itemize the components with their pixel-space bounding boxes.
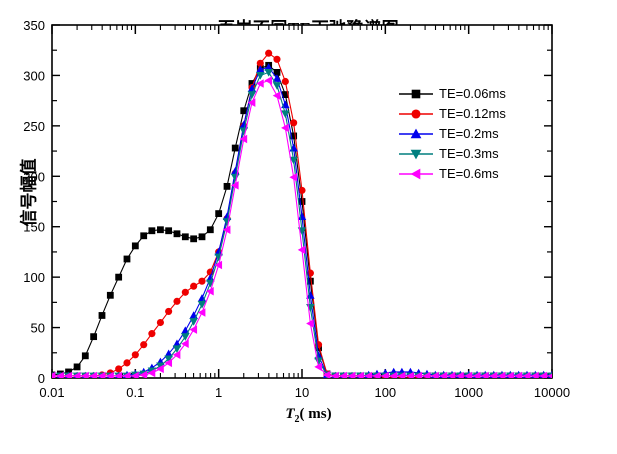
x-tick-label: 1 [215,385,222,400]
data-point-marker [190,235,197,242]
legend-item[interactable]: TE=0.06ms [398,84,506,104]
chart-legend: TE=0.06msTE=0.12msTE=0.2msTE=0.3msTE=0.6… [398,84,506,184]
legend-item[interactable]: TE=0.3ms [398,144,506,164]
x-axis-label: T2( ms) [0,406,617,425]
data-point-marker [174,230,181,237]
data-point-marker [124,256,131,263]
legend-item-label: TE=0.12ms [439,105,506,123]
legend-item-label: TE=0.6ms [439,165,499,183]
y-tick-label: 50 [31,321,45,336]
x-tick-label: 1000 [454,385,483,400]
figure-container: 页岩不同TE下弛豫谱图 0501001502002503003500.010.1… [0,0,617,454]
legend-marker-triangle-left-icon [398,165,434,183]
data-point-marker [90,333,97,340]
data-point-marker [165,308,172,315]
data-point-marker [207,226,214,233]
data-point-marker [282,78,289,85]
legend-item[interactable]: TE=0.12ms [398,104,506,124]
data-point-marker [215,210,222,217]
legend-item-label: TE=0.06ms [439,85,506,103]
data-point-marker [157,319,164,326]
y-axis-label: 信号幅值 [15,128,40,258]
data-point-marker [182,233,189,240]
x-tick-label: 0.01 [39,385,64,400]
data-point-marker [148,330,155,337]
data-point-marker [123,359,130,366]
legend-item-label: TE=0.2ms [439,125,499,143]
data-point-marker [232,145,239,152]
data-point-marker [132,351,139,358]
data-point-marker [140,341,147,348]
y-tick-label: 350 [23,18,45,33]
data-point-marker [140,232,147,239]
data-point-marker [74,364,81,371]
y-tick-label: 300 [23,68,45,83]
data-point-marker [148,227,155,234]
legend-marker-square-icon [398,85,434,103]
data-point-marker [115,365,122,372]
legend-marker-triangle-down-icon [398,145,434,163]
legend-marker-triangle-up-icon [398,125,434,143]
x-tick-label: 100 [374,385,396,400]
x-axis-label-units: ( ms) [300,406,332,422]
chart-plot-area: 0501001502002503003500.010.1110100100010… [0,0,617,454]
y-tick-label: 0 [38,371,45,386]
legend-marker-circle-icon [398,105,434,123]
x-tick-label: 0.1 [126,385,144,400]
x-tick-label: 10 [295,385,309,400]
legend-item-label: TE=0.3ms [439,145,499,163]
legend-item[interactable]: TE=0.2ms [398,124,506,144]
data-point-marker [99,312,106,319]
data-point-marker [290,119,297,126]
data-point-marker [190,283,197,290]
data-point-marker [199,233,206,240]
x-tick-label: 10000 [534,385,570,400]
data-point-marker [115,274,122,281]
data-point-marker [182,289,189,296]
data-point-marker [265,50,272,57]
data-point-marker [173,298,180,305]
y-tick-label: 100 [23,270,45,285]
data-point-marker [107,292,114,299]
data-point-marker [224,183,231,190]
data-point-marker [82,352,89,359]
x-axis-label-symbol: T [285,406,294,422]
legend-item[interactable]: TE=0.6ms [398,164,506,184]
data-point-marker [132,242,139,249]
data-point-marker [157,226,164,233]
data-point-marker [165,227,172,234]
data-point-marker [198,278,205,285]
data-point-marker [273,56,280,63]
